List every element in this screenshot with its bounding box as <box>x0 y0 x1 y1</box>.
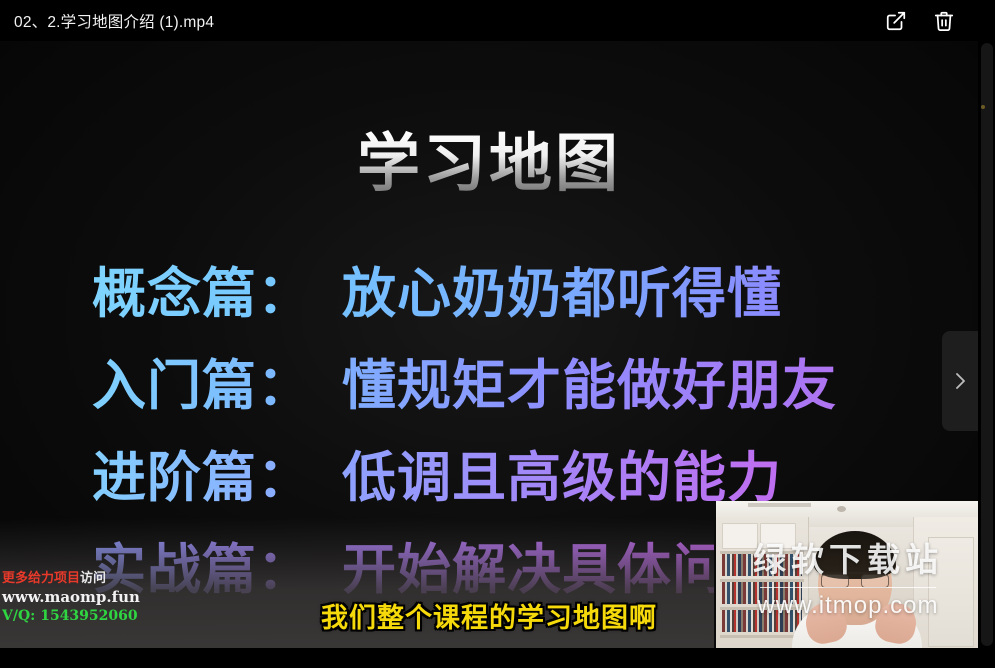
next-button[interactable] <box>942 331 978 431</box>
slide-line-label: 进阶篇： <box>92 433 318 512</box>
right-wall <box>913 517 978 648</box>
slide-heading: 学习地图 <box>0 129 978 198</box>
slide-line: 入门篇： 懂规矩才能做好朋友 <box>92 341 952 433</box>
slide-content: 学习地图 概念篇： 放心奶奶都听得懂 入门篇： 懂规矩才能做好朋友 进阶篇： 低… <box>0 41 978 648</box>
door <box>928 537 974 647</box>
bottom-letterbox <box>0 648 995 668</box>
chevron-right-icon <box>952 369 968 393</box>
watermark-line-1: 更多给力项目访问 <box>2 571 140 587</box>
window-title: 02、2.学习地图介绍 (1).mp4 <box>14 10 214 32</box>
glasses-lens-right <box>861 574 889 588</box>
watermark-url: www.maomp.fun <box>2 588 140 606</box>
slide-line-body: 放心奶奶都听得懂 <box>318 249 782 328</box>
slide-line-body: 开始解决具体问题 <box>318 525 782 604</box>
scrollbar-track[interactable] <box>981 43 993 646</box>
titlebar-actions <box>885 10 981 32</box>
storage-box <box>760 523 796 549</box>
slide-line-label: 概念篇： <box>92 249 318 328</box>
slide-line: 概念篇： 放心奶奶都听得懂 <box>92 249 952 341</box>
scroll-indicator-dot <box>981 105 985 109</box>
books <box>722 554 802 576</box>
shelf <box>720 635 804 638</box>
storage-box <box>722 523 758 549</box>
source-watermark: 更多给力项目访问 www.maomp.fun V/Q: 1543952060 <box>2 571 140 625</box>
watermark-visit-text: 访问 <box>80 571 106 586</box>
books <box>722 582 802 604</box>
slide-line-label: 入门篇： <box>92 341 318 420</box>
watermark-contact: V/Q: 1543952060 <box>2 608 140 625</box>
external-link-icon[interactable] <box>885 10 907 32</box>
glasses-lens-left <box>821 574 849 588</box>
video-stage[interactable]: 学习地图 概念篇： 放心奶奶都听得懂 入门篇： 懂规矩才能做好朋友 进阶篇： 低… <box>0 41 978 648</box>
webcam-room-background <box>716 501 978 648</box>
watermark-promo-text: 更多给力项目 <box>2 571 80 586</box>
slide-line-body: 低调且高级的能力 <box>318 433 782 512</box>
trash-icon[interactable] <box>933 10 955 32</box>
vertical-scrollbar[interactable] <box>978 41 995 648</box>
books <box>722 610 802 632</box>
video-player-window: 02、2.学习地图介绍 (1).mp4 <box>0 0 995 668</box>
ceiling-vent <box>748 503 811 507</box>
slide-line-body: 懂规矩才能做好朋友 <box>318 341 837 420</box>
glasses <box>820 572 890 587</box>
titlebar: 02、2.学习地图介绍 (1).mp4 <box>0 0 995 41</box>
webcam-pip[interactable]: 绿软下载站 www.itmop.com <box>714 501 978 648</box>
